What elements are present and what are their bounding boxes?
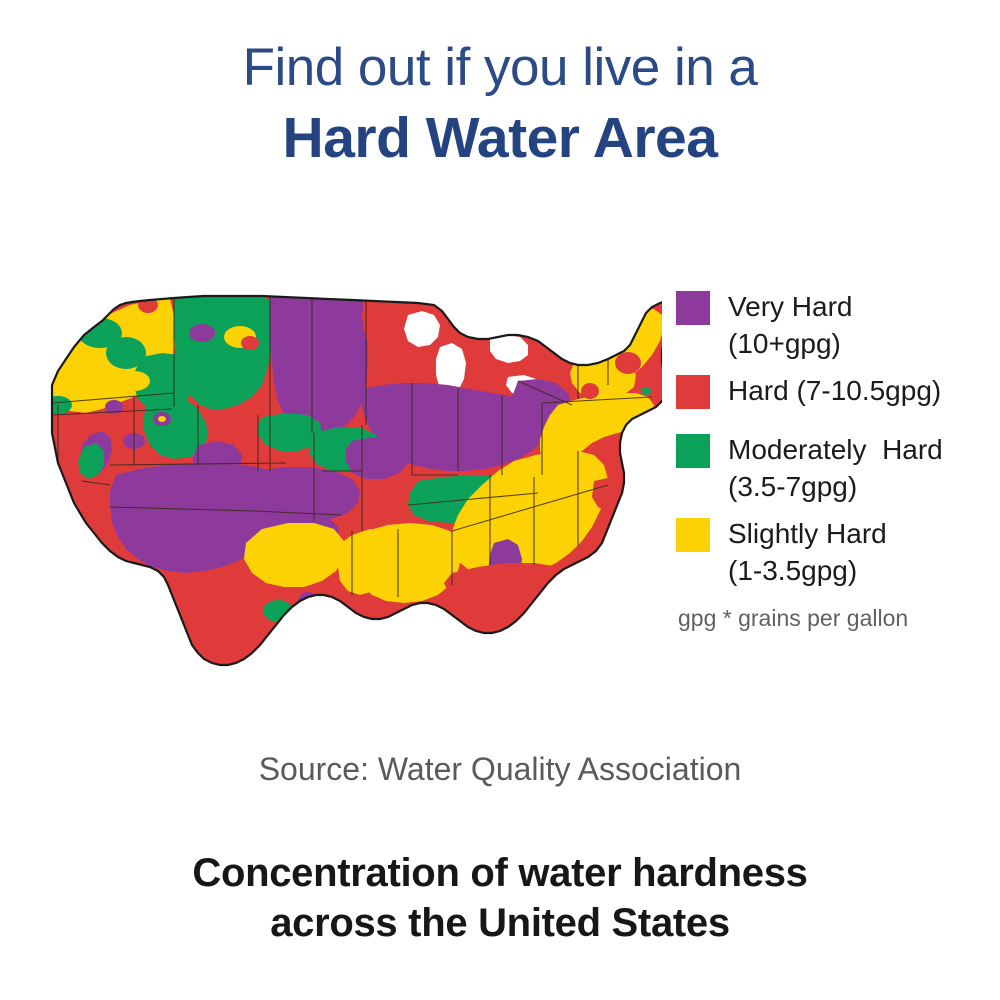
figure-caption-line-2: across the United States xyxy=(0,898,1000,948)
legend-item-hard[interactable]: Hard (7-10.5gpg) xyxy=(676,372,996,409)
legend-swatch-hard xyxy=(676,375,710,409)
page-title-line-2: Hard Water Area xyxy=(0,104,1000,172)
region-hard-montana-pocket xyxy=(241,336,259,350)
legend-label-very-hard: Very Hard (10+gpg) xyxy=(728,288,853,362)
legend-swatch-moderately-hard xyxy=(676,434,710,468)
legend-label-slightly-hard: Slightly Hard (1-3.5gpg) xyxy=(728,515,887,589)
figure-caption-line-1: Concentration of water hardness xyxy=(0,848,1000,898)
region-hard-new-hampshire-pocket xyxy=(615,352,641,374)
page-title: Find out if you live in a Hard Water Are… xyxy=(0,38,1000,172)
legend-item-moderately-hard[interactable]: Moderately Hard (3.5-7gpg) xyxy=(676,431,996,505)
legend-label-hard: Hard (7-10.5gpg) xyxy=(728,372,941,409)
region-hard-ny-pocket xyxy=(581,383,599,399)
region-very-hard-montana-pocket xyxy=(189,324,215,342)
page-title-line-1: Find out if you live in a xyxy=(0,38,1000,98)
figure-caption: Concentration of water hardness across t… xyxy=(0,848,1000,948)
legend-swatch-slightly-hard xyxy=(676,518,710,552)
legend-label-moderately-hard: Moderately Hard (3.5-7gpg) xyxy=(728,431,943,505)
region-slightly-hard-idaho-pocket xyxy=(118,371,150,391)
map-regions xyxy=(22,285,662,680)
legend-footnote: gpg * grains per gallon xyxy=(676,603,996,633)
region-slightly-hard-utah-dot xyxy=(158,416,166,422)
map-legend: Very Hard (10+gpg) Hard (7-10.5gpg) Mode… xyxy=(676,288,996,633)
map-svg xyxy=(22,285,662,680)
legend-item-slightly-hard[interactable]: Slightly Hard (1-3.5gpg) xyxy=(676,515,996,589)
source-attribution: Source: Water Quality Association xyxy=(0,748,1000,790)
legend-swatch-very-hard xyxy=(676,291,710,325)
region-moderately-hard-massachusetts-pocket xyxy=(641,387,651,395)
legend-item-very-hard[interactable]: Very Hard (10+gpg) xyxy=(676,288,996,362)
region-very-hard-florida xyxy=(540,583,590,671)
us-water-hardness-map xyxy=(22,285,662,680)
region-very-hard-northern-plains xyxy=(270,296,368,433)
